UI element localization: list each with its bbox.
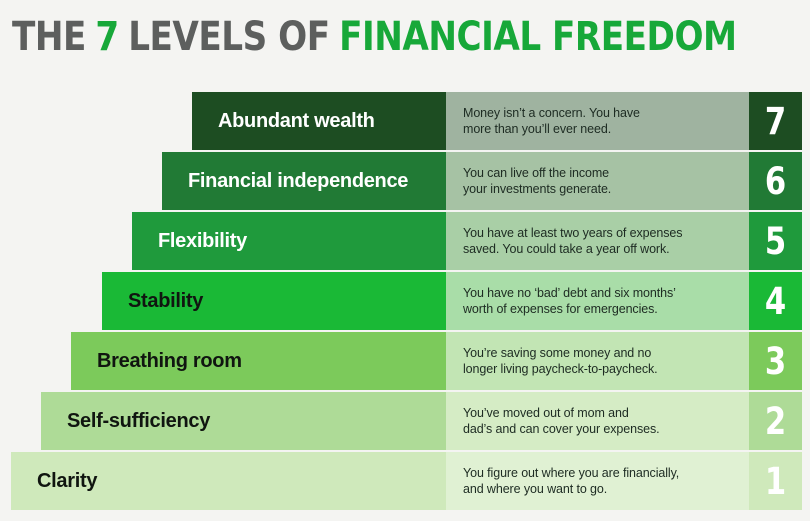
level-description-line2: and where you want to go. xyxy=(463,481,743,498)
title-part-the: THE xyxy=(12,14,86,60)
level-description-line1: You figure out where you are financially… xyxy=(463,465,743,482)
level-number: 2 xyxy=(765,403,786,440)
level-label: Financial independence xyxy=(188,170,408,193)
level-description-line2: longer living paycheck-to-paycheck. xyxy=(463,361,743,378)
title-part-financial-freedom: FINANCIAL FREEDOM xyxy=(339,14,737,60)
level-description-panel: You’ve moved out of mom anddad’s and can… xyxy=(446,392,749,450)
level-number: 7 xyxy=(765,103,786,140)
level-bar-3[interactable]: Breathing room xyxy=(71,332,446,390)
level-description-panel: You’re saving some money and nolonger li… xyxy=(446,332,749,390)
level-row: FlexibilityYou have at least two years o… xyxy=(0,212,810,270)
level-description-line1: You can live off the income xyxy=(463,165,743,182)
level-row: Breathing roomYou’re saving some money a… xyxy=(0,332,810,390)
level-number-badge: 3 xyxy=(749,332,802,390)
level-number: 1 xyxy=(765,463,786,500)
level-description-line2: worth of expenses for emergencies. xyxy=(463,301,743,318)
level-bar-7[interactable]: Abundant wealth xyxy=(192,92,446,150)
level-description-line1: Money isn’t a concern. You have xyxy=(463,105,743,122)
levels-pyramid: Abundant wealthMoney isn’t a concern. Yo… xyxy=(0,92,810,512)
level-number: 5 xyxy=(765,223,786,260)
level-label: Abundant wealth xyxy=(218,110,375,133)
level-number: 3 xyxy=(765,343,786,380)
level-label: Clarity xyxy=(37,470,97,493)
level-description-line1: You’re saving some money and no xyxy=(463,345,743,362)
level-description-panel: You have at least two years of expensess… xyxy=(446,212,749,270)
level-description-line2: saved. You could take a year off work. xyxy=(463,241,743,258)
level-row: Self-sufficiencyYou’ve moved out of mom … xyxy=(0,392,810,450)
level-description-line2: more than you’ll ever need. xyxy=(463,121,743,138)
level-number-badge: 6 xyxy=(749,152,802,210)
level-description-panel: You can live off the incomeyour investme… xyxy=(446,152,749,210)
level-bar-4[interactable]: Stability xyxy=(102,272,446,330)
level-bar-1[interactable]: Clarity xyxy=(11,452,446,510)
level-label: Stability xyxy=(128,290,203,313)
title-part-levels-of: LEVELS OF xyxy=(128,14,329,60)
level-description-line1: You have no ‘bad’ debt and six months’ xyxy=(463,285,743,302)
level-number-badge: 5 xyxy=(749,212,802,270)
level-row: ClarityYou figure out where you are fina… xyxy=(0,452,810,510)
level-label: Self-sufficiency xyxy=(67,410,210,433)
level-bar-2[interactable]: Self-sufficiency xyxy=(41,392,446,450)
level-number-badge: 4 xyxy=(749,272,802,330)
level-bar-6[interactable]: Financial independence xyxy=(162,152,446,210)
level-number-badge: 1 xyxy=(749,452,802,510)
level-bar-5[interactable]: Flexibility xyxy=(132,212,446,270)
level-label: Flexibility xyxy=(158,230,247,253)
level-row: Financial independenceYou can live off t… xyxy=(0,152,810,210)
level-number-badge: 7 xyxy=(749,92,802,150)
level-description-panel: Money isn’t a concern. You havemore than… xyxy=(446,92,749,150)
level-description-line2: dad’s and can cover your expenses. xyxy=(463,421,743,438)
page-title: THE7LEVELS OFFINANCIAL FREEDOM xyxy=(12,14,763,62)
title-part-number: 7 xyxy=(95,14,118,60)
level-row: StabilityYou have no ‘bad’ debt and six … xyxy=(0,272,810,330)
level-number: 4 xyxy=(765,283,786,320)
level-number-badge: 2 xyxy=(749,392,802,450)
level-description-panel: You figure out where you are financially… xyxy=(446,452,749,510)
level-description-panel: You have no ‘bad’ debt and six months’wo… xyxy=(446,272,749,330)
level-number: 6 xyxy=(765,163,786,200)
level-description-line2: your investments generate. xyxy=(463,181,743,198)
level-description-line1: You have at least two years of expenses xyxy=(463,225,743,242)
level-row: Abundant wealthMoney isn’t a concern. Yo… xyxy=(0,92,810,150)
level-label: Breathing room xyxy=(97,350,242,373)
level-description-line1: You’ve moved out of mom and xyxy=(463,405,743,422)
